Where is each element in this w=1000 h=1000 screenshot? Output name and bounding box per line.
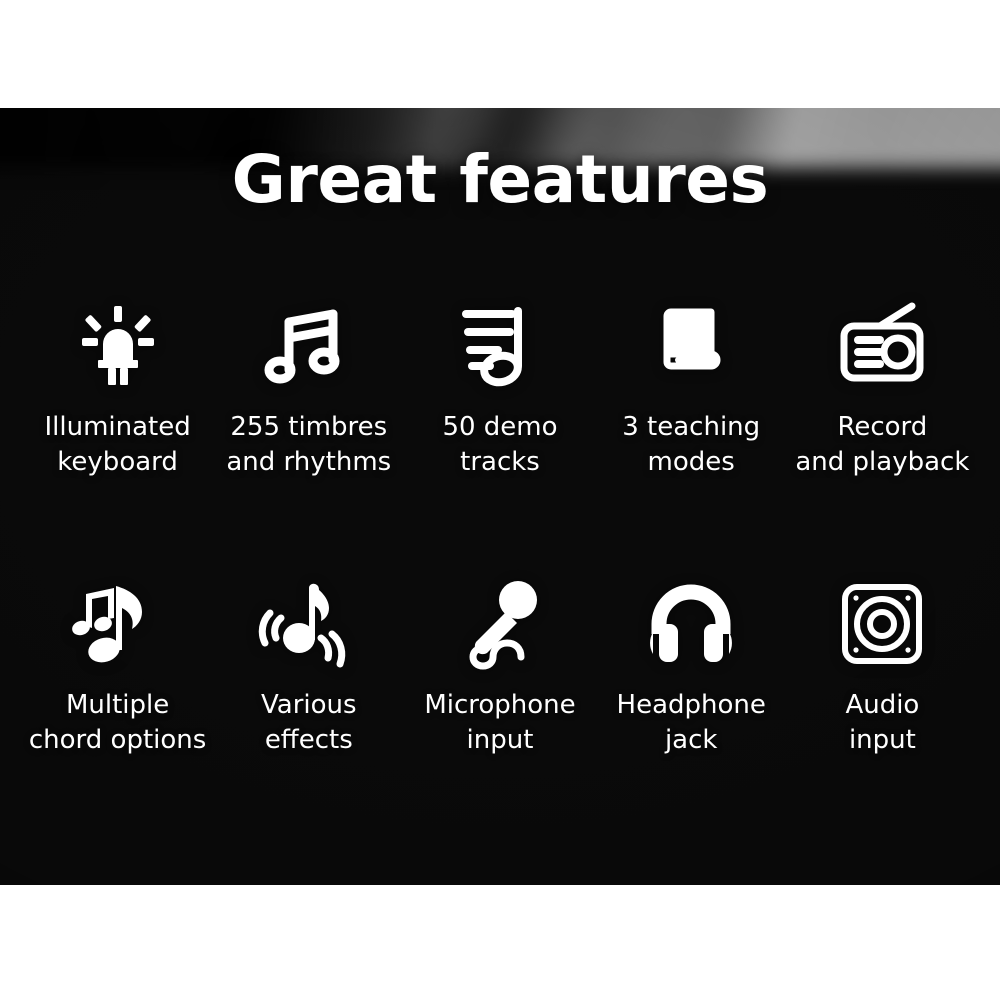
- radio-icon: [836, 300, 928, 392]
- speaker-icon: [836, 578, 928, 670]
- illuminated-led-icon: [72, 300, 164, 392]
- feature-item-teaching-modes: 3 teaching modes: [596, 300, 787, 480]
- feature-label: Illuminated keyboard: [44, 410, 190, 480]
- feature-poster: Great features: [0, 0, 1000, 1000]
- feature-label: Record and playback: [795, 410, 969, 480]
- feature-item-record-and-playback: Record and playback: [787, 300, 978, 480]
- feature-item-illuminated-keyboard: Illuminated keyboard: [22, 300, 213, 480]
- feature-label: 3 teaching modes: [622, 410, 760, 480]
- feature-item-microphone-input: Microphone input: [404, 578, 595, 758]
- feature-label: Various effects: [261, 688, 357, 758]
- page-title: Great features: [0, 143, 1000, 217]
- feature-label: 50 demo tracks: [442, 410, 557, 480]
- feature-label: Audio input: [845, 688, 919, 758]
- note-with-sound-waves-icon: [263, 578, 355, 670]
- feature-label: 255 timbres and rhythms: [226, 410, 391, 480]
- headphones-icon: [645, 578, 737, 670]
- background-photo: [0, 108, 1000, 885]
- feature-label: Headphone jack: [617, 688, 766, 758]
- multiple-notes-icon: [72, 578, 164, 670]
- feature-row-1: Illuminated keyboard 255 timbres and rhy…: [22, 300, 978, 480]
- feature-item-demo-tracks: 50 demo tracks: [404, 300, 595, 480]
- feature-label: Microphone input: [424, 688, 575, 758]
- feature-label: Multiple chord options: [29, 688, 206, 758]
- demo-tracks-playlist-note-icon: [454, 300, 546, 392]
- feature-item-headphone-jack: Headphone jack: [596, 578, 787, 758]
- beamed-double-note-icon: [263, 300, 355, 392]
- microphone-icon: [454, 578, 546, 670]
- book-icon: [645, 300, 737, 392]
- feature-item-audio-input: Audio input: [787, 578, 978, 758]
- feature-item-chord-options: Multiple chord options: [22, 578, 213, 758]
- feature-item-timbres-and-rhythms: 255 timbres and rhythms: [213, 300, 404, 480]
- feature-row-2: Multiple chord options: [22, 578, 978, 758]
- feature-item-various-effects: Various effects: [213, 578, 404, 758]
- photo-vignette: [0, 108, 1000, 885]
